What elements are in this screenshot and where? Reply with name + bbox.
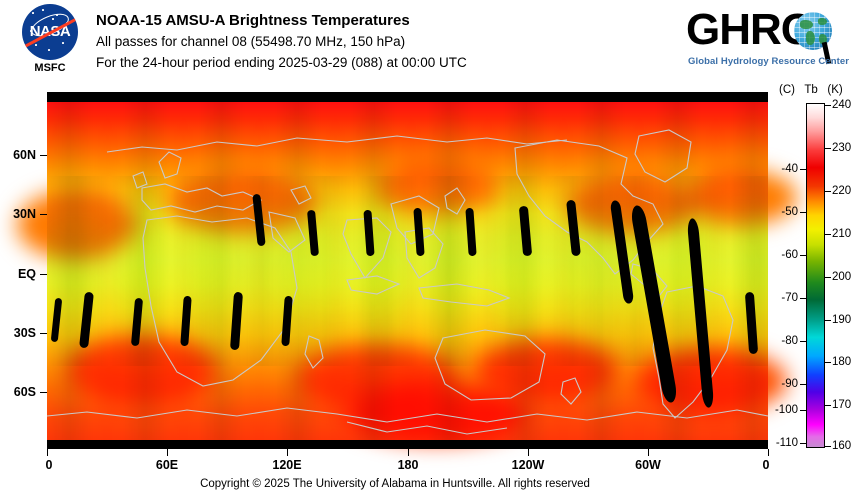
ghrc-caption: Global Hydrology Resource Center bbox=[688, 56, 846, 67]
colorbar-tick-k-160 bbox=[825, 446, 831, 447]
axis-label-lon-120e: 120E bbox=[272, 458, 301, 472]
axis-label-lon-0e: 0 bbox=[763, 458, 770, 472]
data-gap bbox=[566, 200, 581, 257]
data-gap bbox=[630, 204, 679, 403]
axis-label-60n: 60N bbox=[0, 148, 36, 162]
orbital-data-gaps bbox=[47, 92, 768, 449]
tick-eq bbox=[40, 274, 47, 275]
tick-30s bbox=[40, 333, 47, 334]
colorbar-tick-k-190 bbox=[825, 320, 831, 321]
colorbar-tick-c-110 bbox=[800, 443, 806, 444]
axis-label-eq: EQ bbox=[0, 267, 36, 281]
data-gap bbox=[745, 292, 758, 354]
colorbar-label-c-100: -100 bbox=[772, 404, 798, 416]
colorbar-tick-k-170 bbox=[825, 405, 831, 406]
copyright-notice: Copyright © 2025 The University of Alaba… bbox=[0, 478, 790, 490]
tick-lon-180 bbox=[408, 449, 409, 456]
colorbar-label-c-50: -50 bbox=[772, 206, 798, 218]
data-gap bbox=[252, 194, 265, 247]
page-title: NOAA-15 AMSU-A Brightness Temperatures bbox=[96, 10, 467, 31]
data-gap bbox=[51, 298, 63, 342]
axis-label-lon-180: 180 bbox=[398, 458, 419, 472]
colorbar-label-k-180: 180 bbox=[832, 356, 851, 368]
data-gap bbox=[687, 218, 715, 408]
data-gap bbox=[519, 206, 532, 257]
axis-label-lon-60e: 60E bbox=[156, 458, 178, 472]
tick-lon-0w bbox=[47, 449, 48, 456]
colorbar-label-c-40: -40 bbox=[772, 163, 798, 175]
axis-label-lon-0w: 0 bbox=[46, 458, 53, 472]
data-gap bbox=[465, 208, 476, 256]
ghrc-wordmark: GHRC bbox=[686, 6, 812, 54]
data-gap bbox=[79, 292, 94, 349]
colorbar-label-c-110: -110 bbox=[772, 437, 798, 449]
tick-lon-120w bbox=[528, 449, 529, 456]
data-gap bbox=[413, 208, 424, 256]
nasa-meatball-icon: NASA bbox=[22, 4, 78, 60]
colorbar-label-k-230: 230 bbox=[832, 142, 851, 154]
colorbar-label-k-210: 210 bbox=[832, 228, 851, 240]
data-gap bbox=[363, 210, 374, 256]
colorbar-unit-kelvin: (K) bbox=[827, 84, 842, 96]
colorbar-label-c-80: -80 bbox=[772, 335, 798, 347]
data-gap bbox=[230, 292, 243, 350]
colorbar-tick-k-180 bbox=[825, 362, 831, 363]
title-block: NOAA-15 AMSU-A Brightness Temperatures A… bbox=[96, 10, 467, 73]
axis-label-lon-120w: 120W bbox=[512, 458, 545, 472]
colorbar-label-k-240: 240 bbox=[832, 99, 851, 111]
colorbar-unit-celsius: (C) bbox=[779, 84, 795, 96]
axis-label-30s: 30S bbox=[0, 326, 36, 340]
colorbar-tick-c-60 bbox=[800, 255, 806, 256]
colorbar-label-c-70: -70 bbox=[772, 292, 798, 304]
nasa-center-label: MSFC bbox=[14, 62, 86, 74]
tick-lon-0e bbox=[768, 449, 769, 456]
figure-root: NASA MSFC NOAA-15 AMSU-A Brightness Temp… bbox=[0, 0, 854, 502]
data-gap bbox=[180, 296, 191, 346]
tick-lon-60w bbox=[648, 449, 649, 456]
colorbar-label-k-190: 190 bbox=[832, 314, 851, 326]
colorbar-tick-k-200 bbox=[825, 277, 831, 278]
colorbar bbox=[806, 103, 825, 448]
colorbar-label-k-170: 170 bbox=[832, 399, 851, 411]
data-gap bbox=[131, 298, 143, 347]
axis-label-30n: 30N bbox=[0, 207, 36, 221]
data-gap bbox=[610, 200, 634, 304]
tick-lon-60e bbox=[167, 449, 168, 456]
colorbar-tick-c-90 bbox=[800, 384, 806, 385]
colorbar-label-c-60: -60 bbox=[772, 249, 798, 261]
colorbar-tick-c-100 bbox=[800, 410, 806, 411]
colorbar-variable-label: Tb bbox=[804, 84, 817, 96]
colorbar-gradient bbox=[806, 103, 825, 448]
data-gap bbox=[281, 296, 292, 346]
map-background bbox=[47, 92, 768, 449]
tick-60s bbox=[40, 392, 47, 393]
colorbar-label-c-90: -90 bbox=[772, 378, 798, 390]
colorbar-label-k-220: 220 bbox=[832, 185, 851, 197]
tick-30n bbox=[40, 214, 47, 215]
map-plot-area bbox=[47, 92, 768, 449]
colorbar-tick-c-70 bbox=[800, 298, 806, 299]
tick-lon-120e bbox=[287, 449, 288, 456]
ghrc-logo: GHRC Global Hydrology Resource Center bbox=[686, 6, 846, 72]
colorbar-tick-k-210 bbox=[825, 234, 831, 235]
colorbar-tick-k-220 bbox=[825, 191, 831, 192]
colorbar-header: (C) Tb (K) bbox=[779, 84, 843, 96]
colorbar-label-k-200: 200 bbox=[832, 271, 851, 283]
tick-60n bbox=[40, 155, 47, 156]
colorbar-tick-c-80 bbox=[800, 341, 806, 342]
colorbar-tick-k-230 bbox=[825, 148, 831, 149]
nasa-logo: NASA MSFC bbox=[14, 4, 86, 80]
colorbar-tick-c-50 bbox=[800, 212, 806, 213]
colorbar-tick-c-40 bbox=[800, 169, 806, 170]
axis-label-lon-60w: 60W bbox=[635, 458, 661, 472]
colorbar-tick-k-240 bbox=[825, 105, 831, 106]
data-gap bbox=[307, 210, 319, 257]
colorbar-label-k-160: 160 bbox=[832, 440, 851, 452]
subtitle-channel: All passes for channel 08 (55498.70 MHz,… bbox=[96, 31, 467, 52]
subtitle-period: For the 24-hour period ending 2025-03-29… bbox=[96, 52, 467, 73]
axis-label-60s: 60S bbox=[0, 385, 36, 399]
